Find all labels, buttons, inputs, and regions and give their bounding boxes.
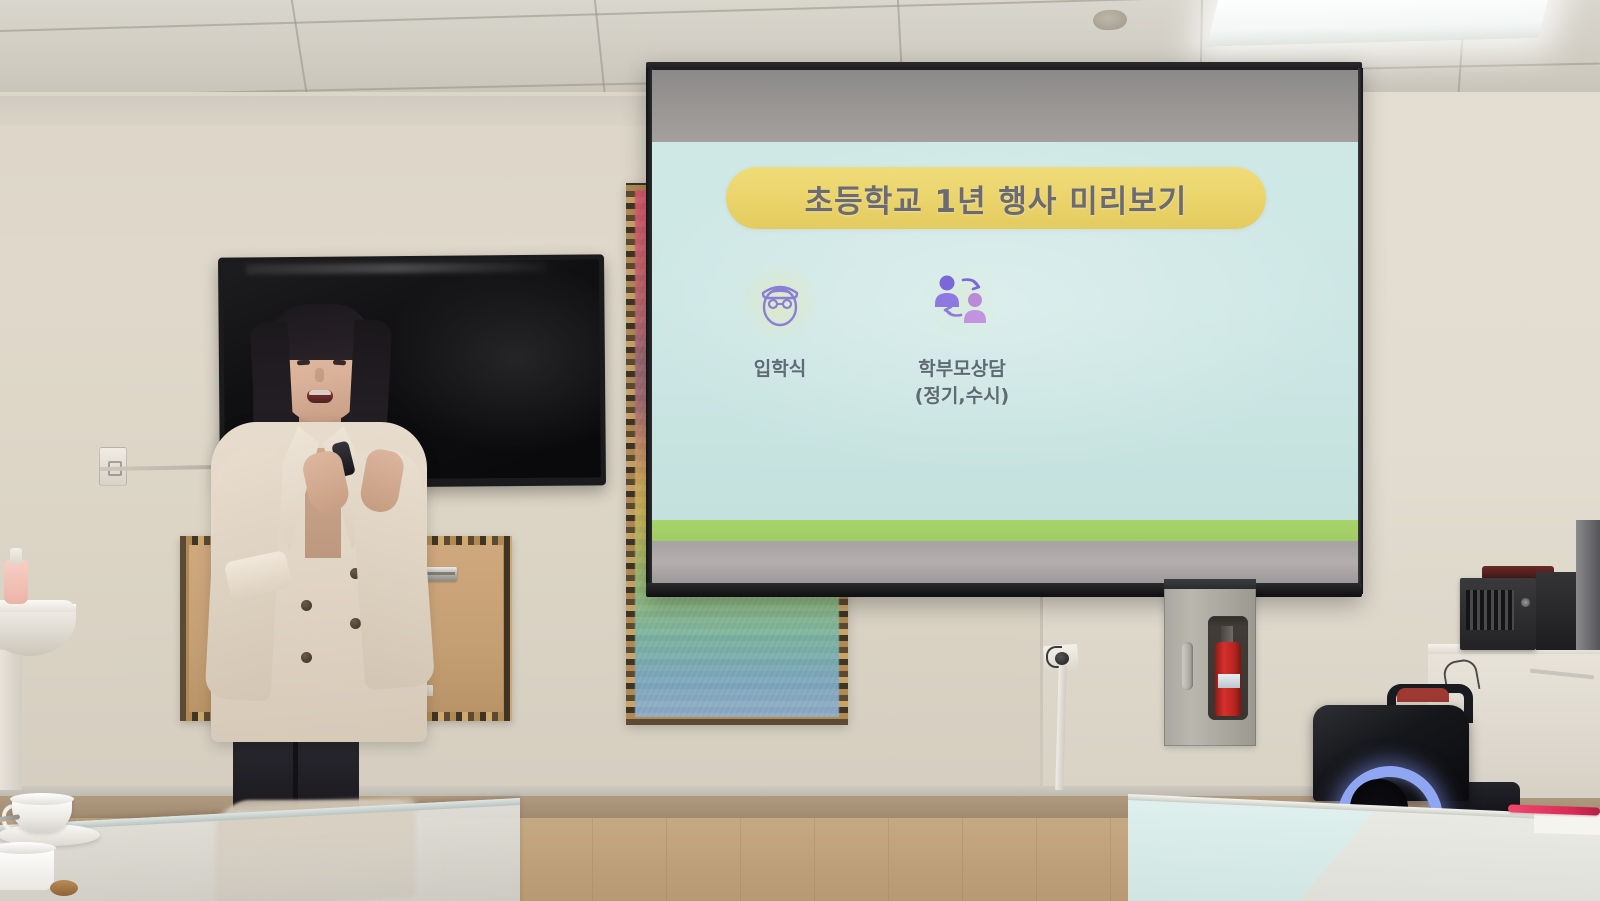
fluorescent-panel-light bbox=[1206, 0, 1552, 46]
sink-pedestal bbox=[0, 650, 22, 790]
slide-item-entrance-ceremony: 입학식 bbox=[710, 258, 850, 383]
presenter-teeth bbox=[309, 390, 331, 395]
amplifier-grill bbox=[1466, 590, 1514, 630]
av-rack-tower bbox=[1576, 520, 1600, 650]
extinguisher-label bbox=[1218, 674, 1240, 688]
presenter-nose bbox=[315, 368, 324, 382]
slide-title-text: 초등학교 1년 행사 미리보기 bbox=[805, 176, 1188, 221]
screen-blank-top-area bbox=[652, 70, 1358, 144]
slide-item-sublabel: (정기,수시) bbox=[915, 383, 1010, 410]
power-plug-icon bbox=[1055, 652, 1069, 665]
graduation-student-icon bbox=[750, 271, 810, 331]
jacket-button bbox=[301, 600, 312, 611]
cabinet-handle[interactable] bbox=[1182, 642, 1193, 690]
fire-extinguisher-cabinet[interactable] bbox=[1164, 588, 1256, 746]
fire-extinguisher-icon bbox=[1215, 642, 1241, 716]
presenter bbox=[205, 300, 435, 810]
speaker-handle-grip bbox=[1397, 688, 1449, 702]
parent-consultation-icon bbox=[930, 271, 994, 331]
smoke-detector bbox=[1092, 9, 1127, 31]
amplifier-knob[interactable] bbox=[1521, 598, 1530, 607]
presenter-eye bbox=[333, 360, 346, 366]
screen-right-edge bbox=[1358, 68, 1363, 594]
slide-item-label-main: 학부모상담 bbox=[918, 358, 1005, 380]
projector-screen: 초등학교 1년 행사 미리보기 입학식 bbox=[646, 62, 1362, 597]
cabinet-top-trim bbox=[1164, 579, 1256, 589]
audio-amplifier[interactable] bbox=[1460, 578, 1536, 650]
cup-rim bbox=[10, 793, 74, 805]
presenter-eye bbox=[297, 360, 310, 366]
cabinet-window bbox=[1208, 616, 1248, 720]
room-photo-scene: 초등학교 1년 행사 미리보기 입학식 bbox=[0, 0, 1600, 901]
slide-item-label: 입학식 bbox=[754, 356, 806, 383]
slide-item-parent-consultation: 학부모상담 (정기,수시) bbox=[892, 258, 1032, 410]
projected-slide: 초등학교 1년 행사 미리보기 입학식 bbox=[652, 142, 1358, 543]
tv-glare bbox=[246, 262, 547, 275]
soap-dispenser[interactable] bbox=[4, 560, 28, 604]
snack bbox=[50, 880, 78, 896]
jacket-button bbox=[301, 652, 312, 663]
icon-halo bbox=[919, 258, 1005, 344]
slide-accent-band bbox=[652, 520, 1358, 543]
icon-halo bbox=[737, 258, 823, 344]
slide-title-banner: 초등학교 1년 행사 미리보기 bbox=[726, 167, 1266, 229]
slide-icon-row: 입학식 bbox=[710, 258, 1032, 410]
jacket-button bbox=[350, 618, 361, 629]
av-equipment-box bbox=[1536, 572, 1576, 650]
slide-item-label: 학부모상담 (정기,수시) bbox=[915, 356, 1010, 410]
soap-pump-icon[interactable] bbox=[10, 548, 22, 564]
